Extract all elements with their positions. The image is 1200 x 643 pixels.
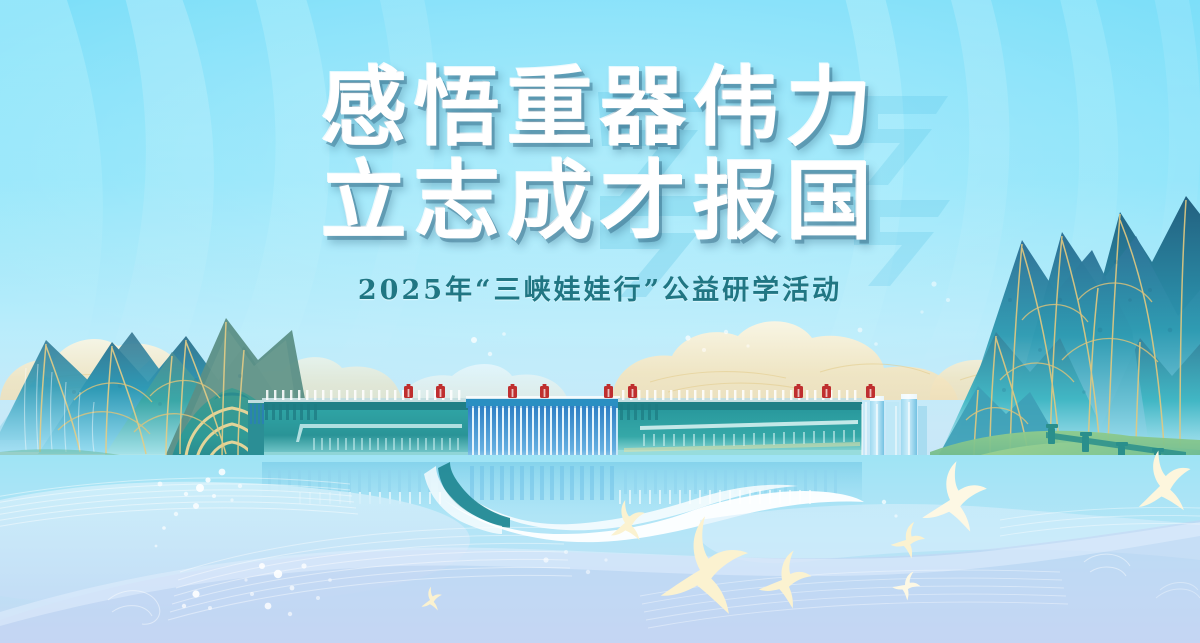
- title-line-2: 立志成才报国: [0, 156, 1200, 248]
- subtitle: 2025年“三峡娃娃行”公益研学活动: [0, 268, 1200, 307]
- title-line-1: 感悟重器伟力: [0, 62, 1200, 154]
- headline-block: 感悟重器伟力 立志成才报国 2025年“三峡娃娃行”公益研学活动: [0, 62, 1200, 307]
- banner-root: 感悟重器伟力 立志成才报国 2025年“三峡娃娃行”公益研学活动: [0, 0, 1200, 643]
